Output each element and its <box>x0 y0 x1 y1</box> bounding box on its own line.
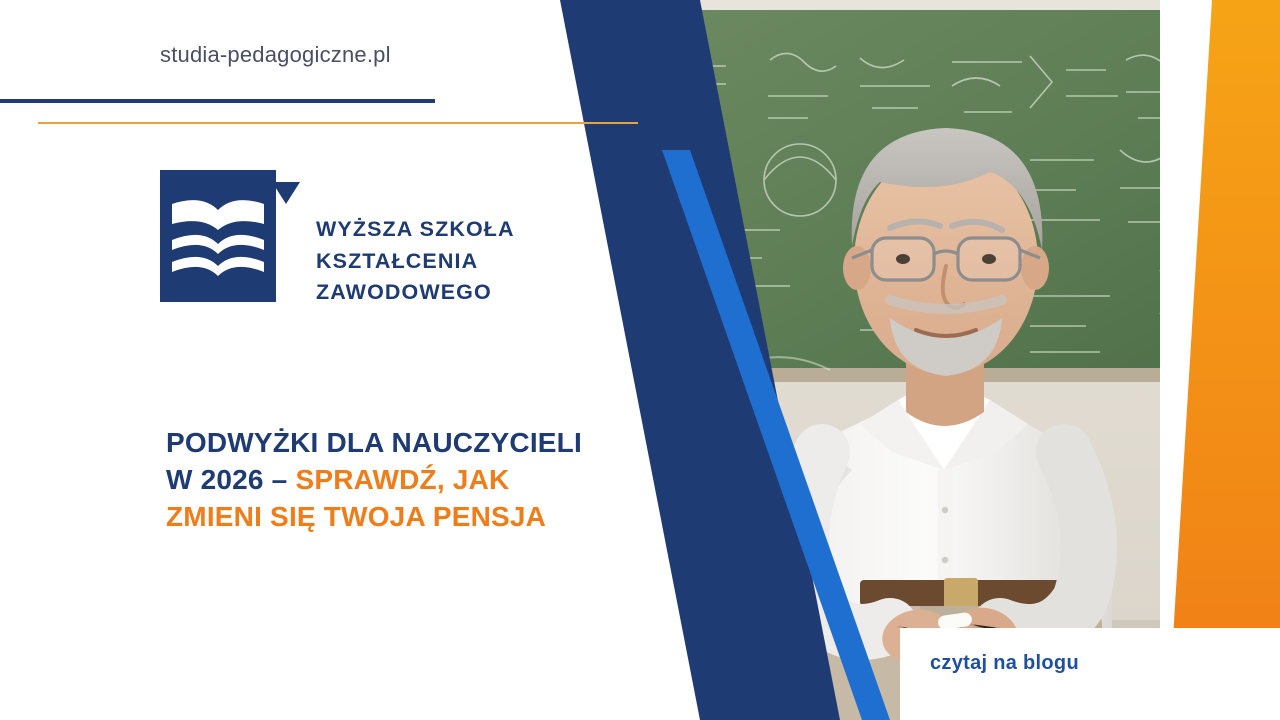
headline: PODWYŻKI DLA NAUCZYCIELI W 2026 – SPRAWD… <box>166 424 636 536</box>
site-url: studia-pedagogiczne.pl <box>160 42 391 68</box>
banner-creative: studia-pedagogiczne.pl WYŻSZA SZKOŁA KSZ… <box>0 0 1280 720</box>
headline-line-2-navy: W 2026 – <box>166 464 295 495</box>
orange-accent-strip <box>1160 0 1280 720</box>
headline-line-1: PODWYŻKI DLA NAUCZYCIELI <box>166 424 636 461</box>
cta-link[interactable]: czytaj na blogu <box>930 652 1079 675</box>
headline-line-3: ZMIENI SIĘ TWOJA PENSJA <box>166 498 636 535</box>
navy-rule <box>0 99 435 103</box>
logo-line-2: KSZTAŁCENIA <box>316 246 515 278</box>
university-logo: WYŻSZA SZKOŁA KSZTAŁCENIA ZAWODOWEGO <box>160 170 515 309</box>
gold-rule <box>38 122 638 124</box>
headline-line-2-accent: SPRAWDŹ, JAK <box>295 464 509 495</box>
headline-line-2: W 2026 – SPRAWDŹ, JAK <box>166 461 636 498</box>
logo-line-1: WYŻSZA SZKOŁA <box>316 214 515 246</box>
logo-line-3: ZAWODOWEGO <box>316 277 515 309</box>
logo-wordmark: WYŻSZA SZKOŁA KSZTAŁCENIA ZAWODOWEGO <box>316 214 515 309</box>
open-book-icon <box>160 170 300 302</box>
